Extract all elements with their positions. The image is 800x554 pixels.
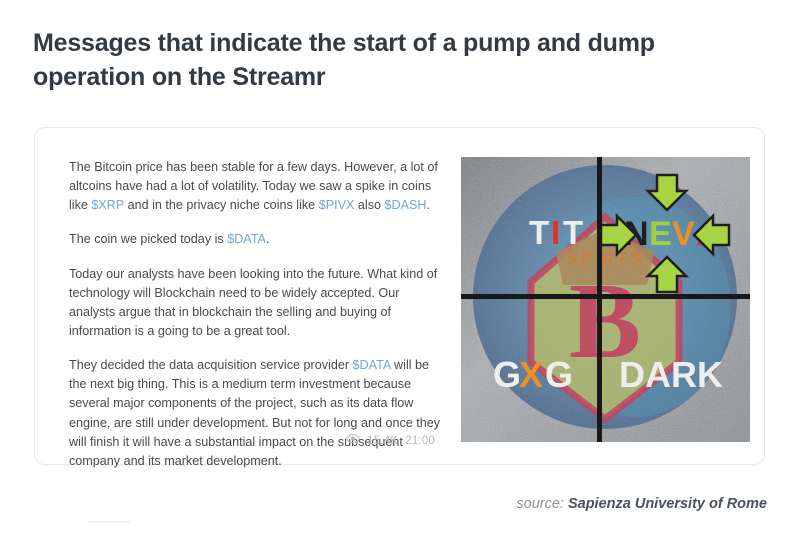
source-attribution: source: Sapienza University of Rome (516, 496, 767, 512)
message-text: will be the next big thing. This is a me… (69, 358, 440, 468)
ticker-link[interactable]: $DATA (353, 358, 391, 372)
bottom-divider (88, 521, 130, 523)
card-inner: The Bitcoin price has been stable for a … (35, 128, 764, 464)
message-paragraph: They decided the data acquisition servic… (69, 356, 441, 471)
ticker-link[interactable]: $PIVX (319, 198, 355, 212)
message-text: . (266, 232, 270, 246)
message-meta: 15.4K 21:00 (346, 434, 435, 448)
message-text: Today our analysts have been looking int… (69, 267, 437, 338)
eye-icon (346, 434, 360, 448)
message-card: The Bitcoin price has been stable for a … (34, 127, 765, 465)
message-paragraph: Today our analysts have been looking int… (69, 265, 441, 342)
message-text: The coin we picked today is (69, 232, 227, 246)
source-name: Sapienza University of Rome (568, 496, 767, 512)
message-paragraphs: The Bitcoin price has been stable for a … (69, 158, 441, 471)
message-text: also (354, 198, 384, 212)
page-title: Messages that indicate the start of a pu… (33, 27, 753, 95)
message-timestamp: 21:00 (405, 435, 435, 447)
message-paragraph: The Bitcoin price has been stable for a … (69, 158, 441, 215)
message-paragraph: The coin we picked today is $DATA. (69, 230, 441, 249)
message-text-column: The Bitcoin price has been stable for a … (69, 158, 441, 440)
message-image: B SP RTS T I T N E V A (461, 157, 750, 442)
page-root: Messages that indicate the start of a pu… (0, 0, 800, 554)
message-text: . (427, 198, 431, 212)
ticker-link[interactable]: $DASH (385, 198, 427, 212)
message-text: and in the privacy niche coins like (124, 198, 319, 212)
view-count: 15.4K (367, 435, 398, 447)
ticker-link[interactable]: $DATA (227, 232, 266, 246)
ticker-link[interactable]: $XRP (91, 198, 124, 212)
source-label: source: (516, 496, 564, 512)
message-text: They decided the data acquisition servic… (69, 358, 353, 372)
